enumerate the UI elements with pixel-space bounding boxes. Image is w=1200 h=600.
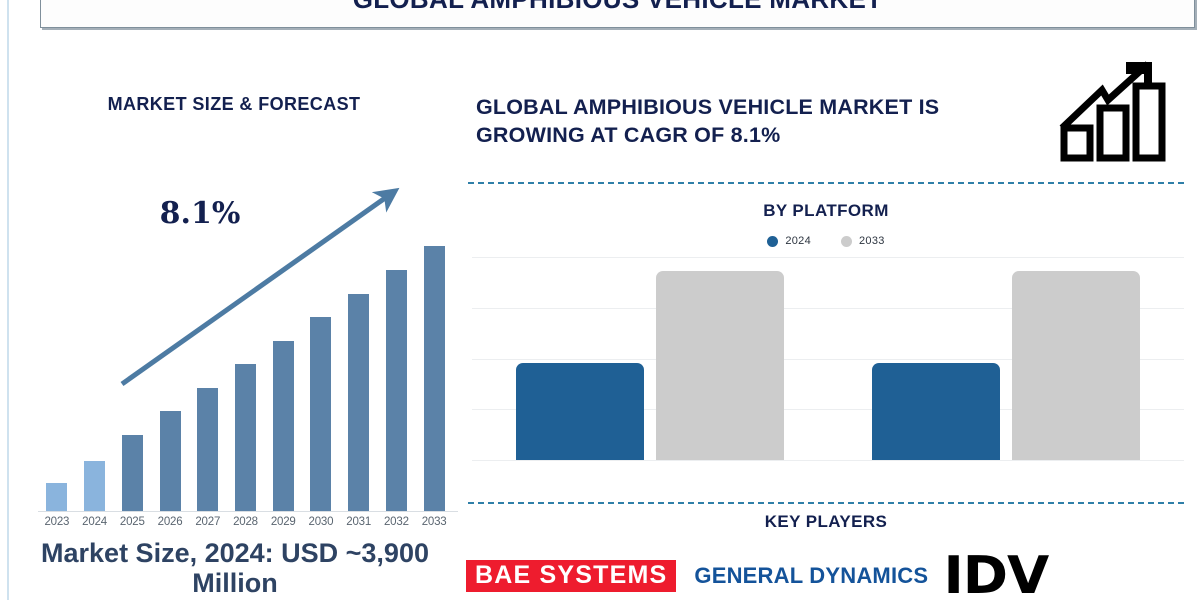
forecast-bar-2026 xyxy=(160,166,181,511)
forecast-bar-2031 xyxy=(348,166,369,511)
left-accent-rail xyxy=(7,0,9,600)
key-players-heading: KEY PLAYERS xyxy=(468,512,1184,532)
forecast-bar-2028 xyxy=(235,166,256,511)
by-platform-legend: 20242033 xyxy=(468,235,1184,247)
forecast-bar-2033 xyxy=(424,166,445,511)
forecast-bar-2025 xyxy=(122,166,143,511)
legend-dot-icon xyxy=(841,236,852,247)
bar xyxy=(122,435,143,511)
growth-bar-chart-arrow-icon xyxy=(1056,56,1176,166)
by-platform-heading: BY PLATFORM xyxy=(468,201,1184,221)
platform-bar-Commercial-2033 xyxy=(656,271,784,460)
platform-bar-Commercial-2024 xyxy=(516,363,644,460)
market-size-value-note: Market Size, 2024: USD ~3,900 Million xyxy=(10,538,460,598)
platform-bar-Defense-2024 xyxy=(872,363,1000,460)
market-size-forecast-panel: MARKET SIZE & FORECAST 8.1% 202320242025… xyxy=(10,46,458,600)
bar xyxy=(424,246,445,511)
forecast-x-label-2029: 2029 xyxy=(264,516,302,528)
forecast-x-axis-labels: 2023202420252026202720282029203020312032… xyxy=(38,516,458,536)
bar xyxy=(46,483,67,511)
bar xyxy=(348,294,369,511)
legend-entry-2024[interactable]: 2024 xyxy=(767,235,811,247)
bar xyxy=(310,317,331,511)
platform-bar-Defense-2033 xyxy=(1012,271,1140,460)
forecast-bar-2027 xyxy=(197,166,218,511)
bar xyxy=(235,364,256,511)
legend-dot-icon xyxy=(767,236,778,247)
forecast-x-label-2032: 2032 xyxy=(378,516,416,528)
forecast-bar-2024 xyxy=(84,166,105,511)
forecast-x-label-2024: 2024 xyxy=(76,516,114,528)
key-player-logo-bae: BAE SYSTEMS xyxy=(466,560,676,592)
forecast-x-label-2031: 2031 xyxy=(340,516,378,528)
legend-label: 2033 xyxy=(859,235,885,247)
bar xyxy=(84,461,105,511)
market-insights-panel: GLOBAL AMPHIBIOUS VEHICLE MARKET IS GROW… xyxy=(458,46,1200,600)
market-size-forecast-chart xyxy=(38,166,453,511)
key-player-logo-idv: IDV xyxy=(944,554,1049,598)
bar xyxy=(160,411,181,511)
legend-entry-2033[interactable]: 2033 xyxy=(841,235,885,247)
forecast-x-label-2023: 2023 xyxy=(38,516,76,528)
bar xyxy=(273,341,294,511)
legend-label: 2024 xyxy=(785,235,811,247)
forecast-x-label-2027: 2027 xyxy=(189,516,227,528)
page-title: GLOBAL AMPHIBIOUS VEHICLE MARKET xyxy=(353,0,883,15)
forecast-bar-2029 xyxy=(273,166,294,511)
forecast-bar-2030 xyxy=(310,166,331,511)
forecast-x-label-2030: 2030 xyxy=(302,516,340,528)
bar xyxy=(386,270,407,511)
section-divider-top xyxy=(468,182,1184,184)
section-divider-bottom xyxy=(468,502,1184,504)
page-title-bar: GLOBAL AMPHIBIOUS VEHICLE MARKET xyxy=(40,0,1195,28)
by-platform-chart: CommercialDefense xyxy=(472,257,1184,460)
forecast-x-label-2025: 2025 xyxy=(113,516,151,528)
forecast-bar-2032 xyxy=(386,166,407,511)
key-player-logo-gd: GENERAL DYNAMICS xyxy=(694,565,928,587)
forecast-baseline-axis xyxy=(38,511,458,512)
gridline xyxy=(472,460,1184,461)
key-players-logo-row: BAE SYSTEMSGENERAL DYNAMICSIDV xyxy=(458,541,1200,600)
gridline xyxy=(472,257,1184,258)
bar xyxy=(197,388,218,511)
forecast-x-label-2028: 2028 xyxy=(227,516,265,528)
forecast-bar-2023 xyxy=(46,166,67,511)
market-size-heading: MARKET SIZE & FORECAST xyxy=(10,94,458,115)
forecast-x-label-2026: 2026 xyxy=(151,516,189,528)
cagr-headline: GLOBAL AMPHIBIOUS VEHICLE MARKET IS GROW… xyxy=(476,94,1046,149)
forecast-x-label-2033: 2033 xyxy=(415,516,453,528)
